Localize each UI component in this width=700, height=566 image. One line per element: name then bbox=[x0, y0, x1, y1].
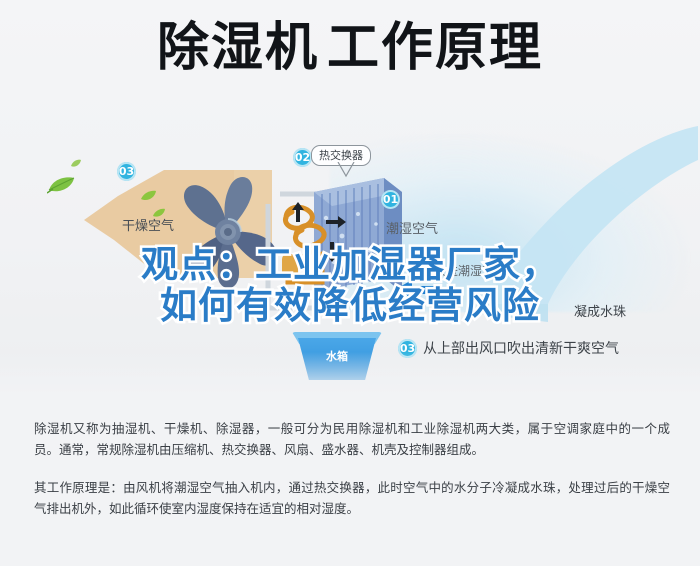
hero-illustration: 除湿机工作原理 bbox=[0, 0, 700, 400]
title-part-1: 除湿机 bbox=[157, 18, 319, 78]
callout-tail-icon bbox=[337, 162, 355, 178]
overlay-line-2: 如何有效降低经营风险 bbox=[0, 285, 700, 326]
title-part-2: 工作原理 bbox=[327, 18, 543, 78]
step-badge-01: 01 bbox=[381, 190, 400, 209]
heat-exchanger-callout: 热交换器 bbox=[311, 145, 371, 166]
step-badge-03: 03 bbox=[117, 162, 136, 181]
step-label-humid-air: 潮湿空气 bbox=[386, 218, 438, 237]
page-title: 除湿机工作原理 bbox=[0, 22, 700, 74]
leaf-icon bbox=[140, 190, 157, 202]
step-badge-02: 02 bbox=[293, 148, 312, 167]
body-paragraph-1: 除湿机又称为抽湿机、干燥机、除湿器，一般可分为民用除湿机和工业除湿机两大类，属于… bbox=[34, 418, 670, 460]
overlay-headline: 观点：工业加湿器厂家， 如何有效降低经营风险 bbox=[0, 244, 700, 326]
page-root: 除湿机工作原理 bbox=[0, 0, 700, 566]
leaf-icon bbox=[70, 159, 82, 168]
step-label-dry-air: 干燥空气 bbox=[122, 215, 174, 234]
hero-bottom-fade bbox=[0, 352, 700, 400]
body-paragraph-2: 其工作原理是：由风机将潮湿空气抽入机内，通过热交换器，此时空气中的水分子冷凝成水… bbox=[34, 477, 670, 519]
leaf-icon bbox=[47, 176, 75, 194]
article-body: 除湿机又称为抽湿机、干燥机、除湿器，一般可分为民用除湿机和工业除湿机两大类，属于… bbox=[34, 418, 670, 519]
overlay-line-1: 观点：工业加湿器厂家， bbox=[0, 244, 700, 285]
